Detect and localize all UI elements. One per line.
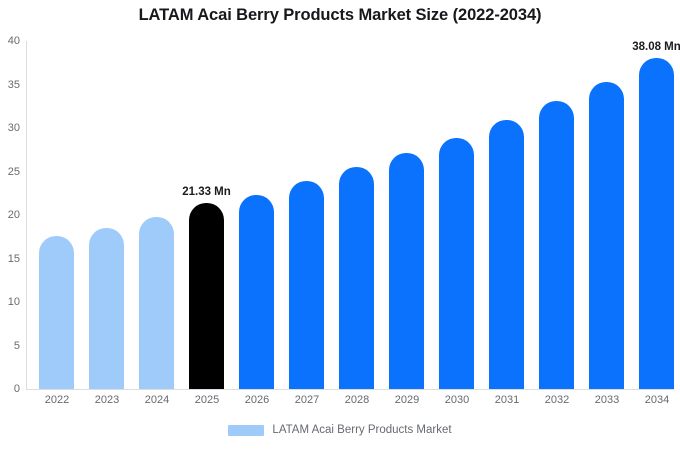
bar-value-label: 21.33 Mn xyxy=(182,186,231,198)
y-axis-tick-label: 20 xyxy=(0,209,20,221)
bar-group xyxy=(382,41,432,389)
bars-layer: 21.33 Mn38.08 Mn xyxy=(26,41,674,390)
x-axis-tick-label: 2026 xyxy=(232,394,282,406)
x-axis-tick-label: 2025 xyxy=(182,394,232,406)
bar[interactable] xyxy=(439,138,474,389)
bar-group xyxy=(482,41,532,389)
bar-group xyxy=(582,41,632,389)
y-axis-tick-label: 5 xyxy=(0,340,20,352)
bar-group xyxy=(332,41,382,389)
x-axis-tick-label: 2030 xyxy=(432,394,482,406)
legend-swatch-icon xyxy=(228,425,264,436)
x-axis-tick-label: 2027 xyxy=(282,394,332,406)
x-axis-tick-label: 2034 xyxy=(632,394,680,406)
bar[interactable] xyxy=(239,195,274,389)
bar-value-label: 38.08 Mn xyxy=(632,41,680,53)
bar-group xyxy=(532,41,582,389)
y-axis-tick-label: 25 xyxy=(0,166,20,178)
x-axis-tick-label: 2032 xyxy=(532,394,582,406)
y-axis-tick-label: 10 xyxy=(0,296,20,308)
bar[interactable] xyxy=(289,181,324,389)
x-axis-tick-label: 2033 xyxy=(582,394,632,406)
bar-group: 38.08 Mn xyxy=(632,41,680,389)
chart-legend: LATAM Acai Berry Products Market xyxy=(0,424,680,436)
bar[interactable] xyxy=(489,120,524,389)
plot-area: 0510152025303540 21.33 Mn38.08 Mn 202220… xyxy=(26,41,674,390)
x-axis-tick-label: 2022 xyxy=(32,394,82,406)
chart-title: LATAM Acai Berry Products Market Size (2… xyxy=(0,6,680,25)
chart-container: LATAM Acai Berry Products Market Size (2… xyxy=(0,0,680,450)
legend-item-label: LATAM Acai Berry Products Market xyxy=(272,424,451,436)
bar[interactable] xyxy=(89,228,124,389)
bar-group: 21.33 Mn xyxy=(182,41,232,389)
x-axis-tick-label: 2031 xyxy=(482,394,532,406)
bar-group xyxy=(82,41,132,389)
bar-group xyxy=(132,41,182,389)
y-axis-tick-label: 40 xyxy=(0,35,20,47)
bar-group xyxy=(232,41,282,389)
bar[interactable] xyxy=(539,101,574,389)
bar[interactable] xyxy=(589,82,624,389)
y-axis-tick-label: 15 xyxy=(0,253,20,265)
x-axis-tick-label: 2023 xyxy=(82,394,132,406)
y-axis-tick-label: 35 xyxy=(0,79,20,91)
bar-group xyxy=(32,41,82,389)
bar[interactable] xyxy=(389,153,424,389)
x-axis-tick-label: 2029 xyxy=(382,394,432,406)
bar-group xyxy=(432,41,482,389)
bar-group xyxy=(282,41,332,389)
x-axis-tick-label: 2028 xyxy=(332,394,382,406)
y-axis-tick-label: 30 xyxy=(0,122,20,134)
bar[interactable]: 38.08 Mn xyxy=(639,58,674,389)
bar[interactable]: 21.33 Mn xyxy=(189,203,224,389)
x-axis-tick-label: 2024 xyxy=(132,394,182,406)
bar[interactable] xyxy=(139,217,174,389)
bar[interactable] xyxy=(339,167,374,389)
y-axis-tick-label: 0 xyxy=(0,383,20,395)
bar[interactable] xyxy=(39,236,74,389)
